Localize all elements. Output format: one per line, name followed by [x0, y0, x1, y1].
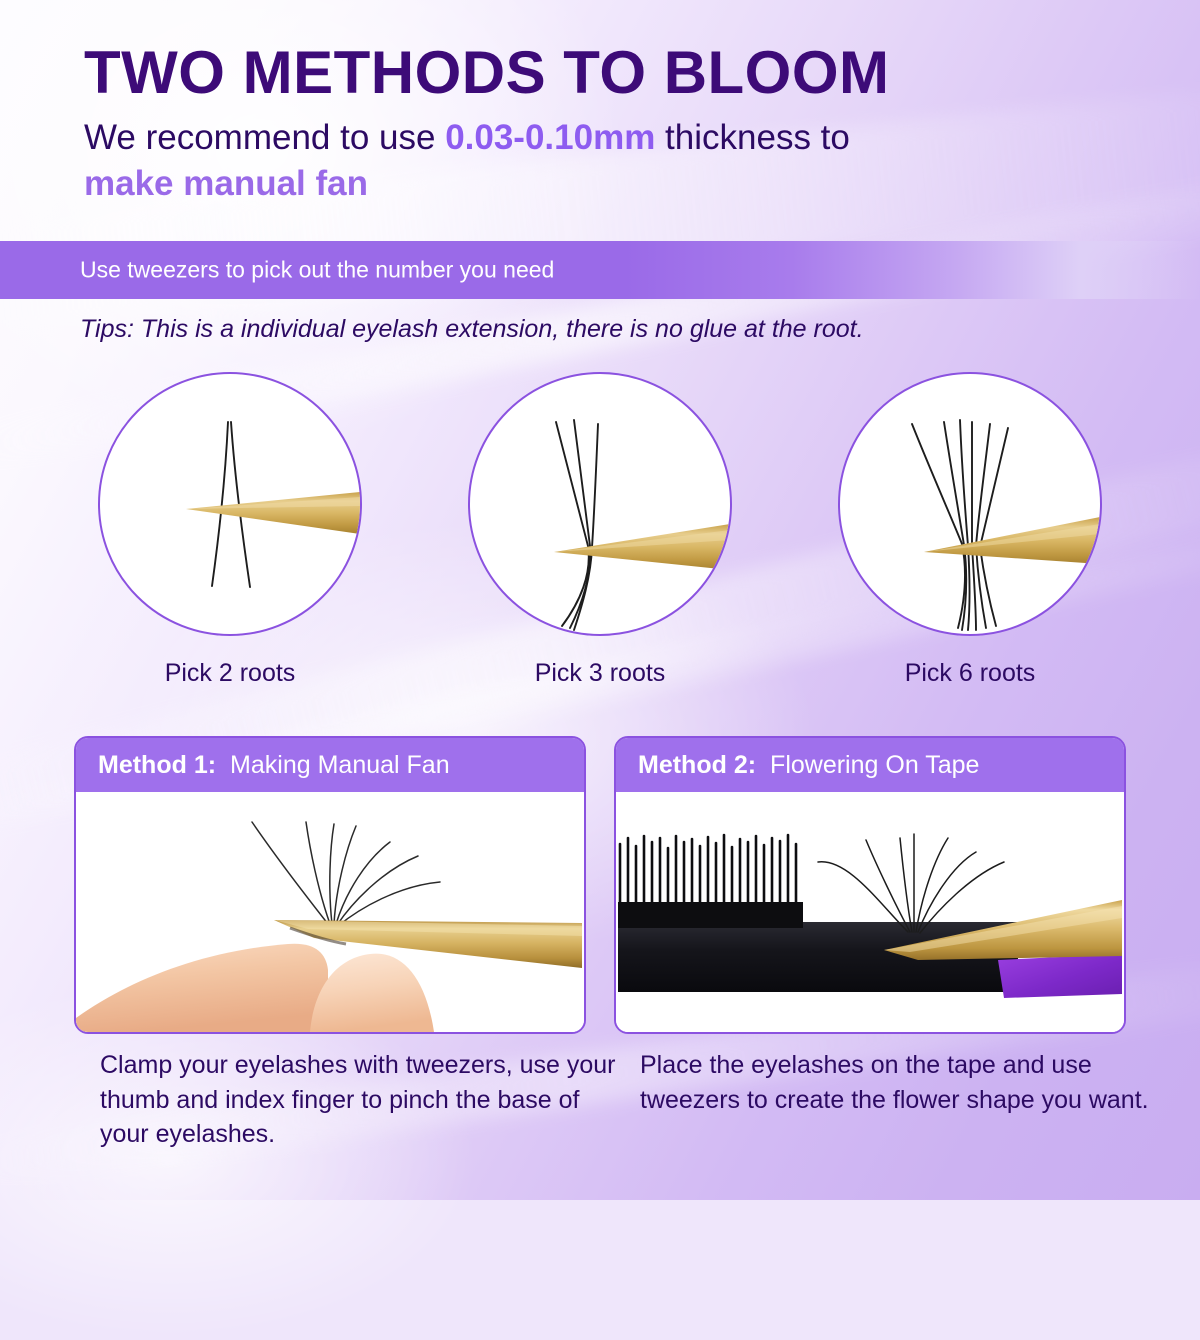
- pick-roots-item: Pick 2 roots: [80, 372, 380, 688]
- subtitle-line-two: make manual fan: [84, 161, 1144, 207]
- pick-roots-row: Pick 2 roots: [0, 372, 1200, 702]
- page-title: TWO METHODS TO BLOOM: [84, 42, 1144, 103]
- instruction-banner-text: Use tweezers to pick out the number you …: [80, 257, 554, 284]
- subtitle: We recommend to use 0.03-0.10mm thicknes…: [84, 115, 1144, 161]
- pick-roots-caption: Pick 6 roots: [820, 659, 1120, 688]
- pick-roots-caption: Pick 3 roots: [450, 659, 750, 688]
- tweezers-with-lashes-icon: [468, 372, 732, 636]
- background-glow-bottom-left: [0, 980, 480, 1340]
- method-label: Method 2:: [638, 751, 756, 780]
- pick-roots-item: Pick 6 roots: [820, 372, 1120, 688]
- pick-roots-item: Pick 3 roots: [450, 372, 750, 688]
- method-card: Method 1: Making Manual Fan: [74, 736, 586, 1034]
- method-label: Method 1:: [98, 751, 216, 780]
- tweezers-with-lashes-icon: [98, 372, 362, 636]
- method-caption: Place the eyelashes on the tape and use …: [640, 1048, 1160, 1117]
- tweezers-with-lashes-icon: [838, 372, 1102, 636]
- header-block: TWO METHODS TO BLOOM We recommend to use…: [84, 42, 1144, 208]
- subtitle-thickness-value: 0.03-0.10mm: [445, 118, 655, 157]
- subtitle-prefix: We recommend to use: [84, 118, 445, 157]
- fingers-pinching-lash-fan-photo: [76, 792, 584, 1032]
- method-card: Method 2: Flowering On Tape: [614, 736, 1126, 1034]
- tips-text: Tips: This is a individual eyelash exten…: [80, 315, 864, 344]
- method-caption: Clamp your eyelashes with tweezers, use …: [100, 1048, 620, 1152]
- pick-roots-caption: Pick 2 roots: [80, 659, 380, 688]
- lash-strip-on-tape-photo: [616, 792, 1124, 1032]
- method-title: Making Manual Fan: [230, 751, 450, 780]
- subtitle-suffix: thickness to: [655, 118, 850, 157]
- method-card-header: Method 1: Making Manual Fan: [76, 738, 584, 792]
- method-title: Flowering On Tape: [770, 751, 979, 780]
- instruction-banner: Use tweezers to pick out the number you …: [0, 241, 1200, 299]
- method-card-header: Method 2: Flowering On Tape: [616, 738, 1124, 792]
